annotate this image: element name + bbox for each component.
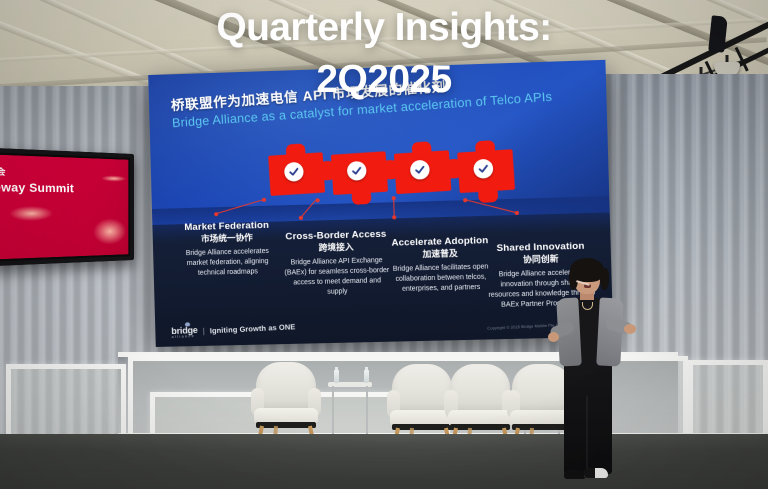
- column-title-cn: 市场统一协作: [175, 232, 280, 246]
- slide-columns: Market Federation 市场统一协作 Bridge Alliance…: [166, 211, 600, 323]
- column-title-cn: 加速普及: [387, 247, 494, 261]
- stage-floor: [0, 434, 768, 489]
- water-bottle: [364, 370, 369, 383]
- puzzle-piece-4: [451, 143, 522, 200]
- footer-tagline: Igniting Growth as ONE: [210, 322, 296, 335]
- column-market-federation: Market Federation 市场统一协作 Bridge Alliance…: [174, 220, 280, 280]
- puzzle-piece-1: [262, 146, 332, 202]
- column-body: Bridge Alliance API Exchange (BAEx) for …: [284, 256, 390, 299]
- footer-separator: |: [202, 327, 205, 336]
- water-bottle: [334, 370, 339, 383]
- side-screen-cn-text: 关峰会: [0, 165, 6, 178]
- side-led-screen: 关峰会 Gateway Summit: [0, 147, 134, 267]
- speaker-person: [540, 258, 636, 488]
- stage-frame-right: [688, 360, 768, 438]
- column-accelerate-adoption: Accelerate Adoption 加速普及 Bridge Alliance…: [387, 235, 495, 296]
- overlay-title-line1: Quarterly Insights:: [216, 6, 551, 49]
- puzzle-piece-3: [387, 144, 458, 201]
- side-screen-en-text: Gateway Summit: [0, 181, 74, 196]
- column-body: Bridge Alliance accelerates market feder…: [175, 247, 280, 280]
- side-table: [328, 382, 372, 438]
- column-body: Bridge Alliance facilitates open collabo…: [387, 262, 494, 295]
- column-cross-border-access: Cross-Border Access 跨境接入 Bridge Alliance…: [283, 229, 390, 299]
- overlay-title: Quarterly Insights: 2Q2025: [0, 0, 768, 106]
- stage-frame-left: [6, 364, 126, 440]
- column-title-cn: 跨境接入: [283, 241, 389, 255]
- brand-logo: bridge alliance: [171, 325, 198, 339]
- puzzle-piece-2: [324, 145, 394, 202]
- conference-stage-photo: 关峰会 Gateway Summit 桥联盟作为加速电信 API 市场发展的催化…: [0, 0, 768, 489]
- overlay-title-line2: 2Q2025: [0, 54, 768, 106]
